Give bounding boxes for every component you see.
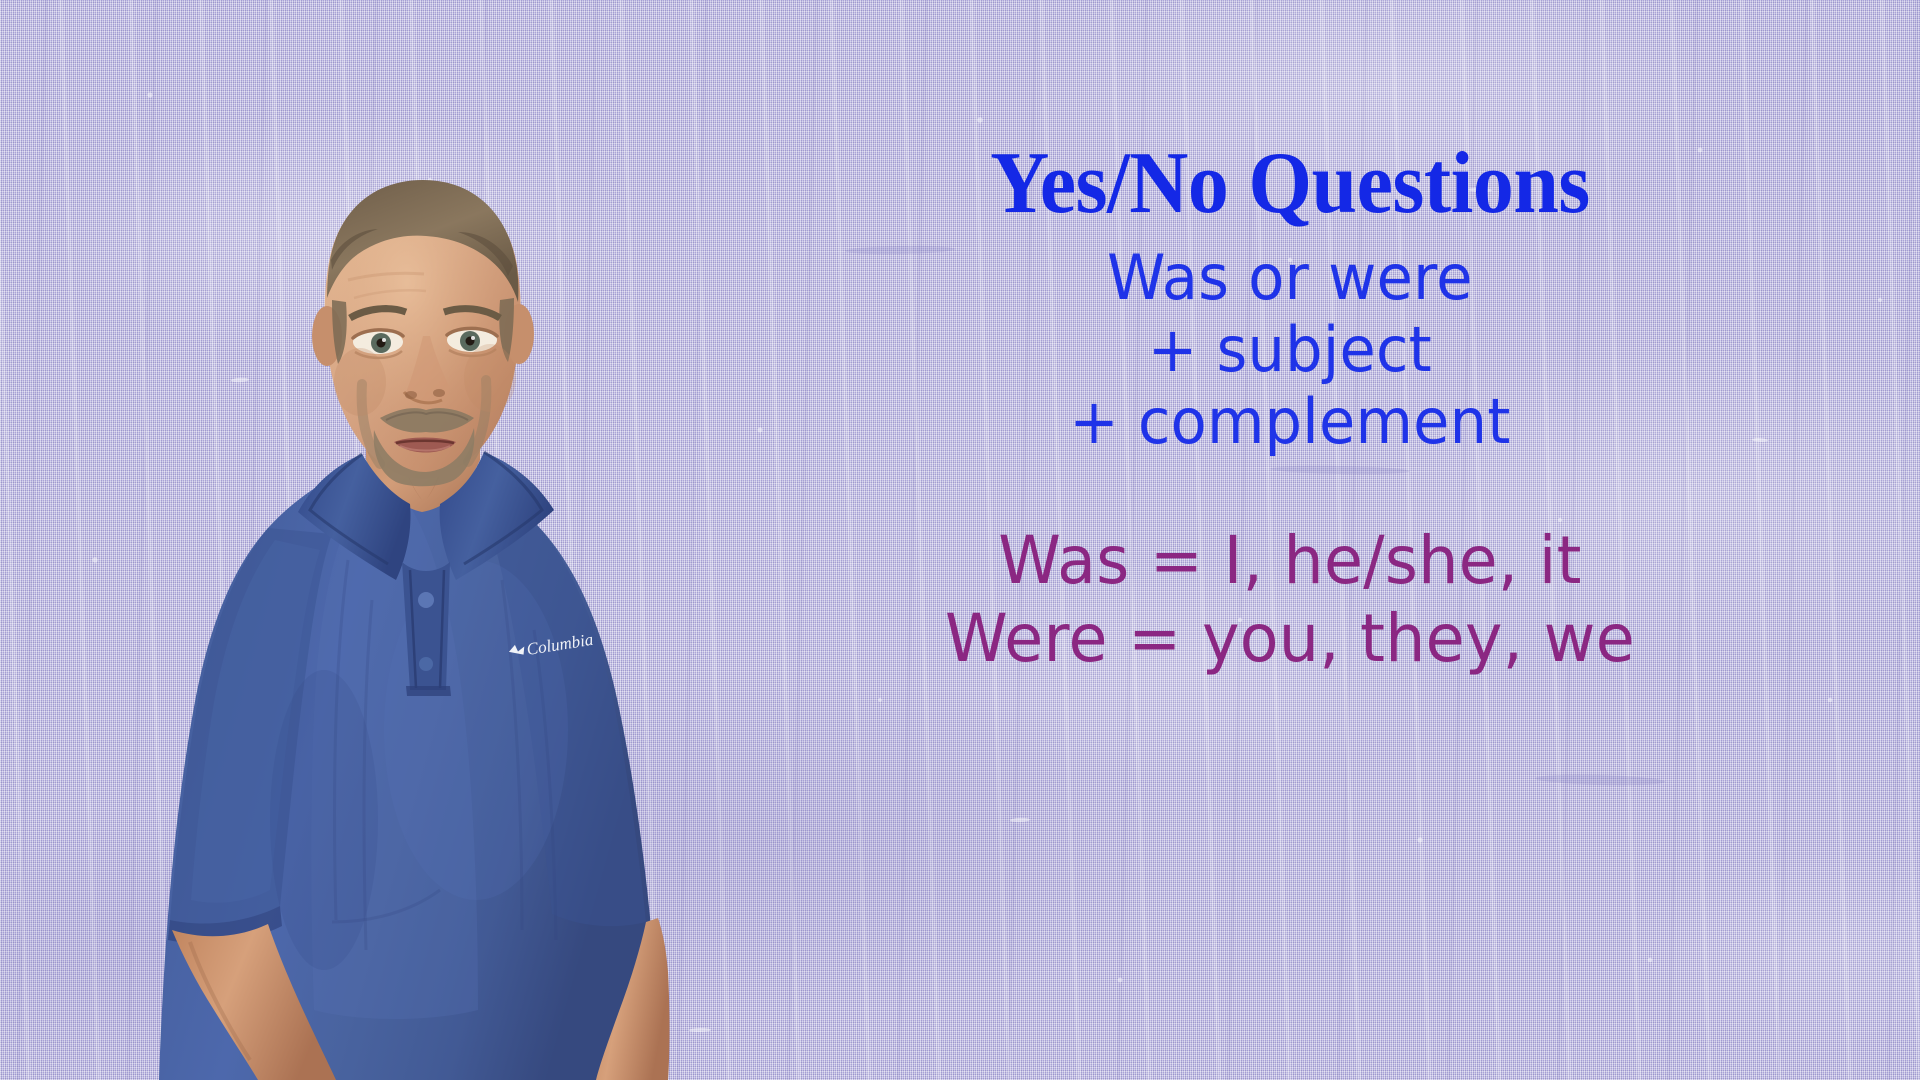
formula-line-2: + subject (730, 314, 1851, 386)
presenter-figure: Columbia (110, 130, 710, 1080)
formula-line-1: Was or were (730, 242, 1851, 314)
slide-text-block: Yes/No Questions Was or were + subject +… (700, 140, 1880, 677)
formula-lines: Was or were + subject + complement (700, 242, 1880, 458)
presenter-shirt-button (419, 657, 433, 671)
pronoun-lines: Was = I, he/she, it Were = you, they, we (700, 522, 1880, 678)
presenter-shirt-button (418, 592, 434, 608)
pronoun-line-was: Was = I, he/she, it (724, 522, 1857, 600)
page-title: Yes/No Questions (741, 140, 1838, 228)
formula-line-3: + complement (730, 386, 1851, 458)
pronoun-line-were: Were = you, they, we (724, 600, 1857, 678)
video-frame: Columbia (0, 0, 1920, 1080)
